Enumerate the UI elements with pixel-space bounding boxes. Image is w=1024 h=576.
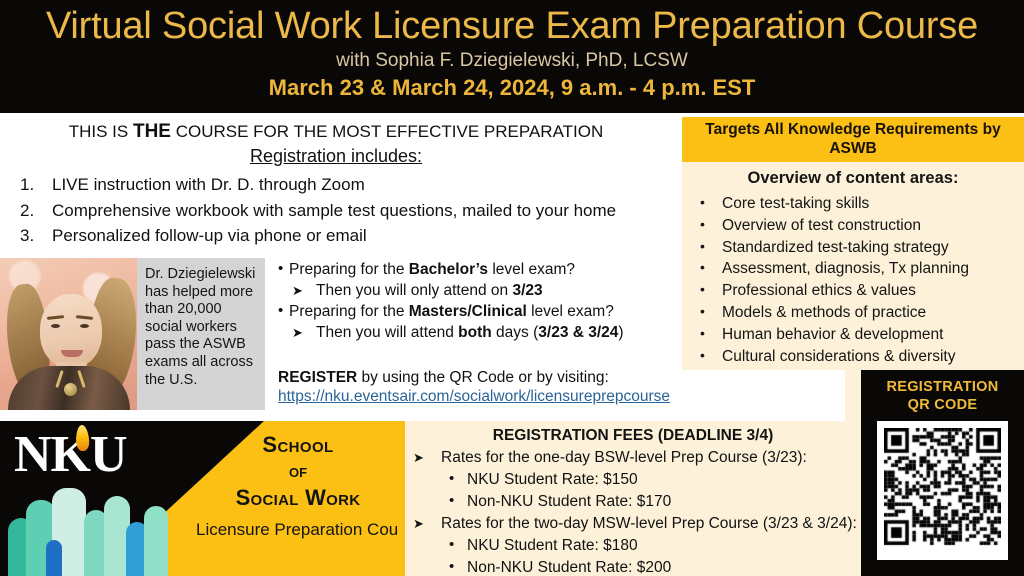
presenter-photo bbox=[0, 258, 137, 410]
fee-label: NKU Student Rate: bbox=[467, 537, 599, 554]
fee-row: Non-NKU Student Rate: $200 bbox=[405, 557, 861, 576]
nku-brand-banner: NKU School of Social Work Licensure Prep… bbox=[0, 421, 400, 576]
list-item-label: LIVE instruction with Dr. D. through Zoo… bbox=[52, 175, 365, 194]
list-item-number: 2. bbox=[20, 198, 44, 224]
presenter-bio-box: Dr. Dziegielewski has helped more than 2… bbox=[137, 258, 265, 410]
exam-path-suffix2: ) bbox=[618, 324, 623, 341]
content-panel-banner: Targets All Knowledge Requirements by AS… bbox=[682, 117, 1024, 162]
fee-label: Non-NKU Student Rate: bbox=[467, 493, 632, 510]
list-item-label: Personalized follow-up via phone or emai… bbox=[52, 226, 367, 245]
fee-row: NKU Student Rate: $150 bbox=[405, 469, 861, 491]
presenter-bio-text: Dr. Dziegielewski has helped more than 2… bbox=[137, 258, 265, 389]
exam-path-answer: Then you will only attend on 3/23 bbox=[278, 281, 678, 300]
list-item-label: Comprehensive workbook with sample test … bbox=[52, 201, 616, 220]
qr-title-line-1: REGISTRATION bbox=[861, 370, 1024, 396]
content-area-list: Core test-taking skills Overview of test… bbox=[682, 191, 1024, 367]
content-panel: Overview of content areas: Core test-tak… bbox=[682, 162, 1024, 370]
lead-emphasis: THE bbox=[133, 121, 171, 142]
nku-logo: NKU bbox=[14, 427, 127, 483]
registration-includes-heading: Registration includes: bbox=[0, 146, 672, 167]
fee-label: NKU Student Rate: bbox=[467, 471, 599, 488]
fees-heading: REGISTRATION FEES (DEADLINE 3/4) bbox=[405, 421, 861, 447]
lead-prefix: THIS IS bbox=[69, 122, 133, 141]
presenter-subtitle: with Sophia F. Dziegielewski, PhD, LCSW bbox=[0, 48, 1024, 72]
list-item-number: 3. bbox=[20, 223, 44, 249]
qr-code-image[interactable] bbox=[877, 421, 1008, 560]
page-title: Virtual Social Work Licensure Exam Prepa… bbox=[0, 0, 1024, 48]
list-item: Core test-taking skills bbox=[682, 193, 1024, 215]
list-item: Human behavior & development bbox=[682, 324, 1024, 346]
registration-includes-label: Registration includes: bbox=[250, 146, 422, 166]
school-line-2: of bbox=[196, 458, 400, 484]
content-panel-heading: Overview of content areas: bbox=[682, 162, 1024, 191]
school-name-block: School of Social Work Licensure Preparat… bbox=[196, 431, 400, 542]
list-item: Professional ethics & values bbox=[682, 280, 1024, 302]
lead-statement: THIS IS THE COURSE FOR THE MOST EFFECTIV… bbox=[0, 122, 672, 142]
qr-title-line-2: QR CODE bbox=[861, 396, 1024, 414]
register-text: by using the QR Code or by visiting: bbox=[357, 369, 609, 386]
register-instruction: REGISTER by using the QR Code or by visi… bbox=[278, 368, 698, 387]
fee-label: Non-NKU Student Rate: bbox=[467, 559, 632, 576]
exam-path-prefix: Preparing for the bbox=[289, 261, 409, 278]
registration-link[interactable]: https://nku.eventsair.com/socialwork/lic… bbox=[278, 387, 708, 406]
photo-pendant bbox=[64, 383, 77, 396]
exam-path-prefix: Preparing for the bbox=[289, 303, 409, 320]
photo-eye-right bbox=[80, 324, 89, 328]
exam-path-block: Preparing for the Bachelor’s level exam?… bbox=[278, 260, 678, 344]
flyer-canvas: Virtual Social Work Licensure Exam Prepa… bbox=[0, 0, 1024, 576]
list-item: Assessment, diagnosis, Tx planning bbox=[682, 258, 1024, 280]
header-banner: Virtual Social Work Licensure Exam Prepa… bbox=[0, 0, 1024, 113]
photo-eye-left bbox=[51, 324, 60, 328]
registration-includes-list: 1. LIVE instruction with Dr. D. through … bbox=[14, 172, 674, 249]
school-line-1: School bbox=[196, 431, 400, 458]
fee-amount: $180 bbox=[603, 537, 637, 554]
list-item: 3. Personalized follow-up via phone or e… bbox=[14, 223, 674, 249]
list-item: Standardized test-taking strategy bbox=[682, 237, 1024, 259]
lead-suffix: COURSE FOR THE MOST EFFECTIVE PREPARATIO… bbox=[171, 122, 603, 141]
exam-path-level: Bachelor’s bbox=[409, 261, 488, 278]
list-item: 2. Comprehensive workbook with sample te… bbox=[14, 198, 674, 224]
exam-path-suffix: level exam? bbox=[488, 261, 575, 278]
exam-path-suffix: level exam? bbox=[527, 303, 614, 320]
exam-path-both: both bbox=[458, 324, 492, 341]
list-item: 1. LIVE instruction with Dr. D. through … bbox=[14, 172, 674, 198]
exam-path-level: Masters/Clinical bbox=[409, 303, 527, 320]
photo-mouth bbox=[61, 350, 83, 357]
qr-code-canvas[interactable] bbox=[884, 428, 1001, 553]
exam-path-dates: 3/23 & 3/24 bbox=[538, 324, 618, 341]
fee-amount: $200 bbox=[637, 559, 671, 576]
list-item: Cultural considerations & diversity bbox=[682, 346, 1024, 368]
fee-group-title: Rates for the one-day BSW-level Prep Cou… bbox=[405, 447, 861, 469]
exam-path-suffix: days ( bbox=[492, 324, 539, 341]
fee-row: Non-NKU Student Rate: $170 bbox=[405, 491, 861, 513]
event-dates: March 23 & March 24, 2024, 9 a.m. - 4 p.… bbox=[0, 72, 1024, 101]
exam-path-prefix: Then you will only attend on bbox=[316, 282, 512, 299]
content-panel-banner-label: Targets All Knowledge Requirements by AS… bbox=[682, 121, 1024, 158]
fee-group-title: Rates for the two-day MSW-level Prep Cou… bbox=[405, 513, 861, 535]
registration-fees-panel: REGISTRATION FEES (DEADLINE 3/4) Rates f… bbox=[398, 421, 861, 576]
list-item: Models & methods of practice bbox=[682, 302, 1024, 324]
exam-path-answer: Then you will attend both days (3/23 & 3… bbox=[278, 323, 678, 342]
exam-path-question: Preparing for the Bachelor’s level exam? bbox=[278, 260, 678, 279]
helping-hands-graphic bbox=[6, 484, 186, 576]
exam-path-prefix: Then you will attend bbox=[316, 324, 458, 341]
exam-path-date: 3/23 bbox=[512, 282, 542, 299]
fee-amount: $170 bbox=[637, 493, 671, 510]
register-emphasis: REGISTER bbox=[278, 369, 357, 386]
qr-code-panel: REGISTRATION QR CODE bbox=[861, 370, 1024, 576]
list-item-number: 1. bbox=[20, 172, 44, 198]
school-line-3: Social Work bbox=[196, 484, 400, 512]
school-tagline: Licensure Preparation Course bbox=[196, 512, 400, 542]
panel-gap-filler bbox=[845, 370, 861, 421]
exam-path-question: Preparing for the Masters/Clinical level… bbox=[278, 302, 678, 321]
list-item: Overview of test construction bbox=[682, 215, 1024, 237]
fee-row: NKU Student Rate: $180 bbox=[405, 535, 861, 557]
fee-amount: $150 bbox=[603, 471, 637, 488]
